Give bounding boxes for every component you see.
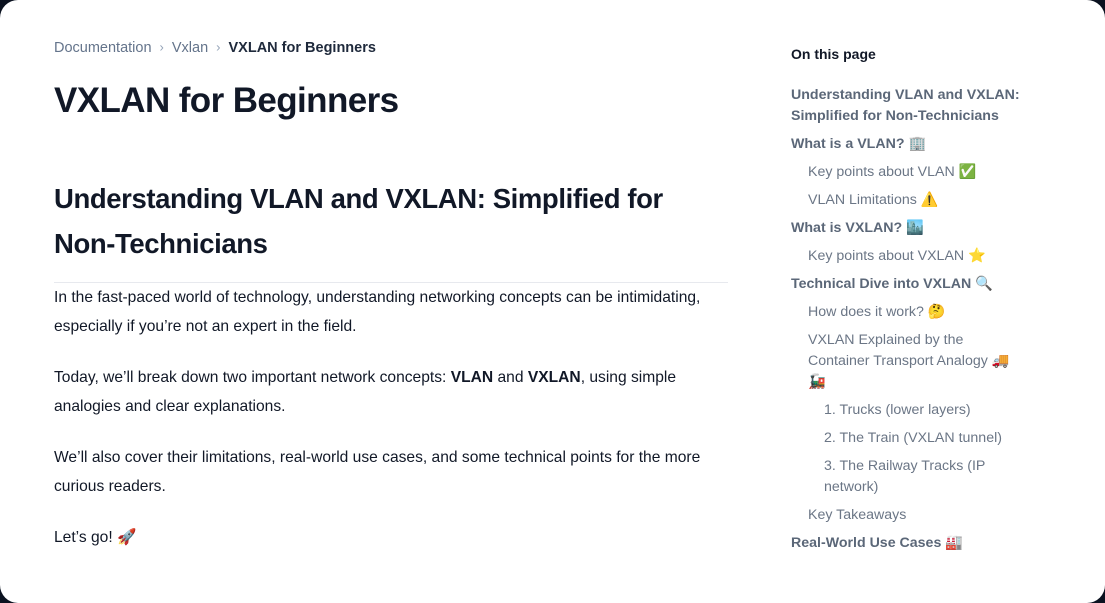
paragraph: Let’s go! 🚀 <box>54 523 716 552</box>
text-run: Let’s go! 🚀 <box>54 529 136 546</box>
emphasis-text: VLAN <box>451 369 493 386</box>
text-run: Today, we’ll break down two important ne… <box>54 369 451 386</box>
paragraph: In the fast-paced world of technology, u… <box>54 283 716 341</box>
table-of-contents: On this page Understanding VLAN and VXLA… <box>791 44 1023 557</box>
toc-link[interactable]: Key points about VLAN ✅ <box>791 158 1023 186</box>
toc-link[interactable]: Real-World Use Cases 🏭 <box>791 529 1023 557</box>
text-run: We’ll also cover their limitations, real… <box>54 449 700 495</box>
toc-link[interactable]: 3. The Railway Tracks (IP network) <box>791 452 1023 501</box>
breadcrumb-current: VXLAN for Beginners <box>229 38 376 58</box>
toc-list: Understanding VLAN and VXLAN: Simplified… <box>791 81 1023 557</box>
section-heading: Understanding VLAN and VXLAN: Simplified… <box>54 176 729 266</box>
breadcrumb-link[interactable]: Documentation <box>54 38 152 58</box>
toc-link[interactable]: Key Takeaways <box>791 501 1023 529</box>
toc-link[interactable]: How does it work? 🤔 <box>791 298 1023 326</box>
main-content: Documentation›Vxlan›VXLAN for Beginners … <box>54 38 744 552</box>
toc-item: 3. The Railway Tracks (IP network) <box>791 452 1023 501</box>
toc-link[interactable]: Key points about VXLAN ⭐ <box>791 242 1023 270</box>
text-run: and <box>493 369 528 386</box>
toc-item: Real-World Use Cases 🏭 <box>791 529 1023 557</box>
toc-link[interactable]: Technical Dive into VXLAN 🔍 <box>791 270 1023 298</box>
documentation-page: Documentation›Vxlan›VXLAN for Beginners … <box>0 0 1105 603</box>
text-run: In the fast-paced world of technology, u… <box>54 289 700 335</box>
toc-item: What is VXLAN? 🏙️ <box>791 214 1023 242</box>
toc-item: VLAN Limitations ⚠️ <box>791 186 1023 214</box>
toc-link[interactable]: VXLAN Explained by the Container Transpo… <box>791 326 1023 396</box>
page-title: VXLAN for Beginners <box>54 80 744 122</box>
toc-item: Key points about VLAN ✅ <box>791 158 1023 186</box>
toc-link[interactable]: What is VXLAN? 🏙️ <box>791 214 1023 242</box>
breadcrumb-link[interactable]: Vxlan <box>172 38 208 58</box>
emphasis-text: VXLAN <box>528 369 581 386</box>
toc-link[interactable]: 1. Trucks (lower layers) <box>791 396 1023 424</box>
toc-link[interactable]: What is a VLAN? 🏢 <box>791 130 1023 158</box>
breadcrumb-separator-icon: › <box>160 38 164 58</box>
toc-item: Understanding VLAN and VXLAN: Simplified… <box>791 81 1023 130</box>
paragraph: We’ll also cover their limitations, real… <box>54 443 716 501</box>
toc-item: VXLAN Explained by the Container Transpo… <box>791 326 1023 396</box>
toc-item: How does it work? 🤔 <box>791 298 1023 326</box>
toc-item: Technical Dive into VXLAN 🔍 <box>791 270 1023 298</box>
toc-item: 1. Trucks (lower layers) <box>791 396 1023 424</box>
breadcrumb-separator-icon: › <box>216 38 220 58</box>
breadcrumb: Documentation›Vxlan›VXLAN for Beginners <box>54 38 744 58</box>
toc-item: 2. The Train (VXLAN tunnel) <box>791 424 1023 452</box>
toc-item: Key Takeaways <box>791 501 1023 529</box>
article-body: In the fast-paced world of technology, u… <box>54 283 744 552</box>
toc-link[interactable]: Understanding VLAN and VXLAN: Simplified… <box>791 81 1023 130</box>
toc-heading: On this page <box>791 44 1023 64</box>
toc-item: What is a VLAN? 🏢 <box>791 130 1023 158</box>
paragraph: Today, we’ll break down two important ne… <box>54 363 716 421</box>
toc-link[interactable]: 2. The Train (VXLAN tunnel) <box>791 424 1023 452</box>
toc-link[interactable]: VLAN Limitations ⚠️ <box>791 186 1023 214</box>
toc-item: Key points about VXLAN ⭐ <box>791 242 1023 270</box>
